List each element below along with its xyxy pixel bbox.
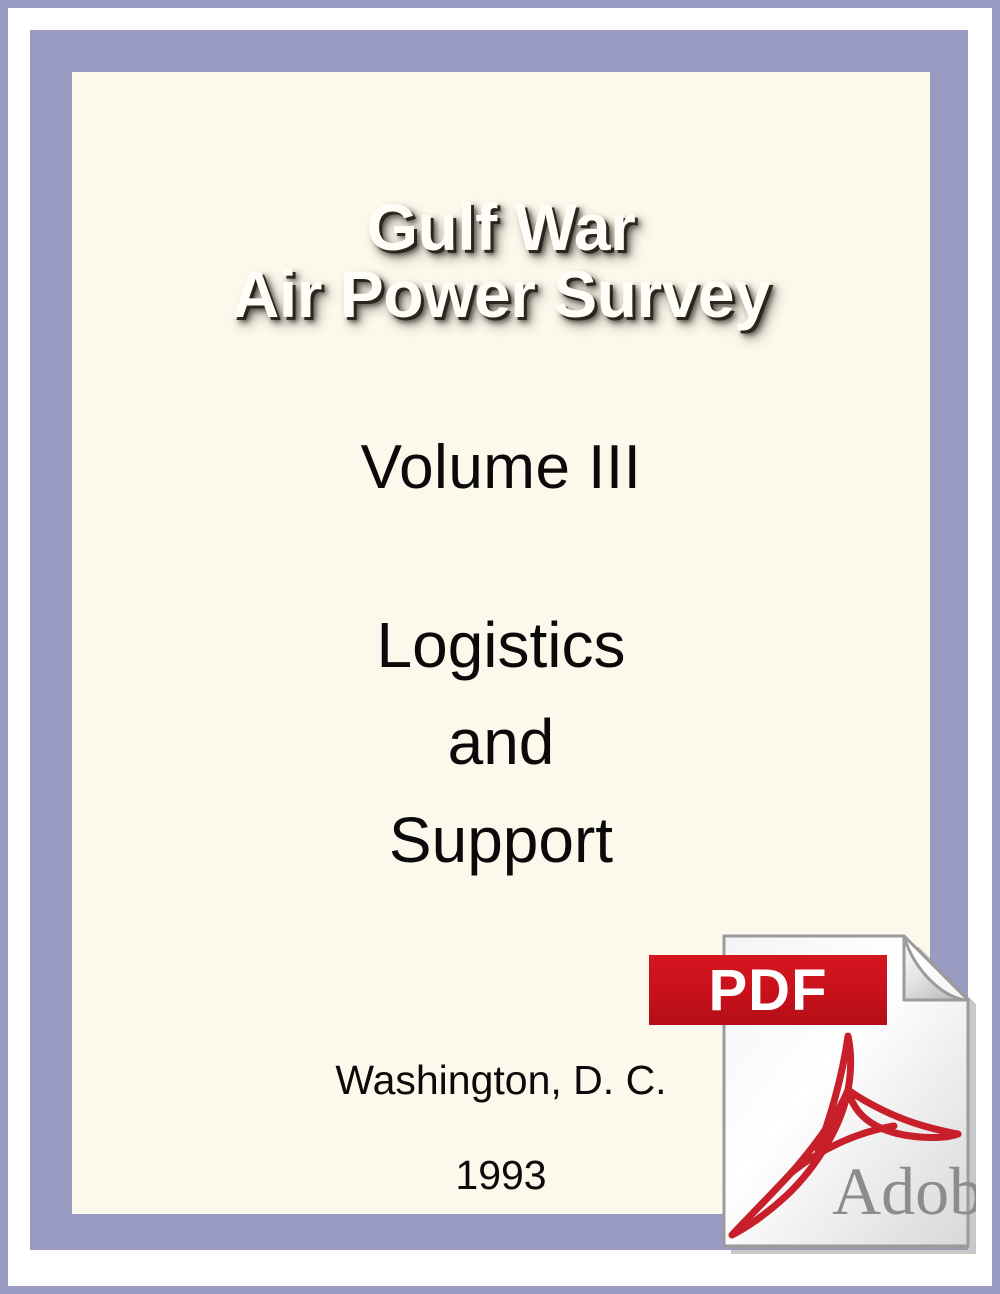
pdf-badge-label: PDF — [709, 958, 828, 1023]
subject-line-3: Support — [72, 792, 930, 889]
book-title: Gulf War Air Power Survey — [72, 194, 930, 329]
adobe-wordmark-label: Adobe — [832, 1153, 976, 1229]
title-line-2: Air Power Survey — [72, 261, 930, 328]
volume-label: Volume III — [72, 432, 930, 503]
cover-page: Gulf War Air Power Survey Volume III Log… — [0, 0, 1000, 1294]
pdf-badge: PDF — [649, 955, 887, 1025]
subject-block: Logistics and Support — [72, 597, 930, 889]
adobe-pdf-icon[interactable]: PDF Adobe — [646, 928, 976, 1254]
title-line-1: Gulf War — [72, 194, 930, 261]
subject-line-1: Logistics — [72, 597, 930, 694]
subject-line-2: and — [72, 694, 930, 791]
